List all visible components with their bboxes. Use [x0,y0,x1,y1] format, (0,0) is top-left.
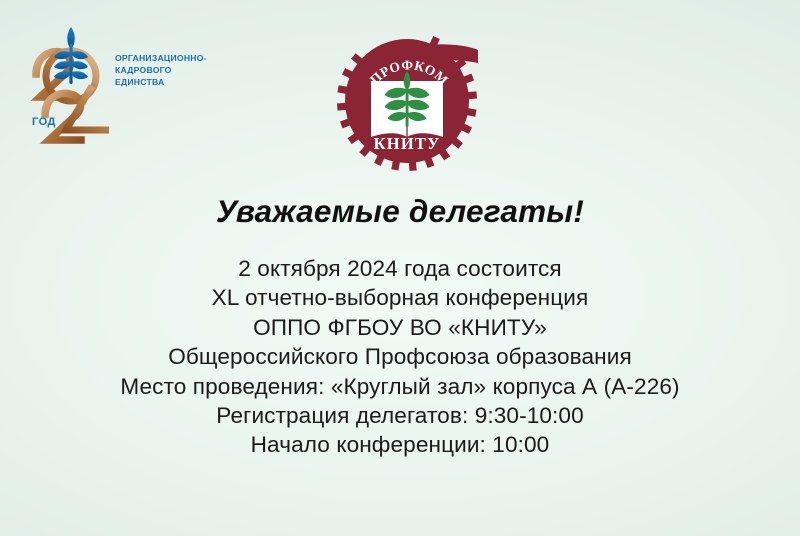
announcement-line: Начало конференции: 10:00 [0,430,800,459]
announcement-line: Место проведения: «Круглый зал» корпуса … [0,372,800,401]
announcement-line: Общероссийского Профсоюза образования [0,342,800,371]
org-line-3: ЕДИНСТВА [115,76,207,88]
announcement-line: ОППО ФГБОУ ВО «КНИТУ» [0,313,800,342]
announcement-line: 2 октября 2024 года состоится [0,254,800,283]
announcement-line: Регистрация делегатов: 9:30-10:00 [0,401,800,430]
profkom-knitu-emblem-graphic: ПРОФКОМ КНИТУ [337,27,483,175]
year-logo-org-text: ОРГАНИЗАЦИОННО- КАДРОВОГО ЕДИНСТВА [115,52,207,89]
year-logo: ГОД ОРГАНИЗАЦИОННО- КАДРОВОГО ЕДИНСТВА [14,24,214,154]
year-word-label: ГОД [32,116,56,128]
page-title: Уважаемые делегаты! [0,193,800,230]
year-logo-graphic: ГОД [14,24,112,152]
year-logo-mark: ГОД [14,24,112,152]
announcement-line: XL отчетно-выборная конференция [0,283,800,312]
announcement-slide: ГОД ОРГАНИЗАЦИОННО- КАДРОВОГО ЕДИНСТВА [0,0,800,536]
org-line-2: КАДРОВОГО [115,64,207,76]
wheat-icon [54,27,88,84]
emblem-bottom-label: КНИТУ [374,134,441,153]
org-line-1: ОРГАНИЗАЦИОННО- [115,52,207,64]
profkom-knitu-emblem: ПРОФКОМ КНИТУ [337,27,483,175]
announcement-body: 2 октября 2024 года состоится XL отчетно… [0,254,800,460]
